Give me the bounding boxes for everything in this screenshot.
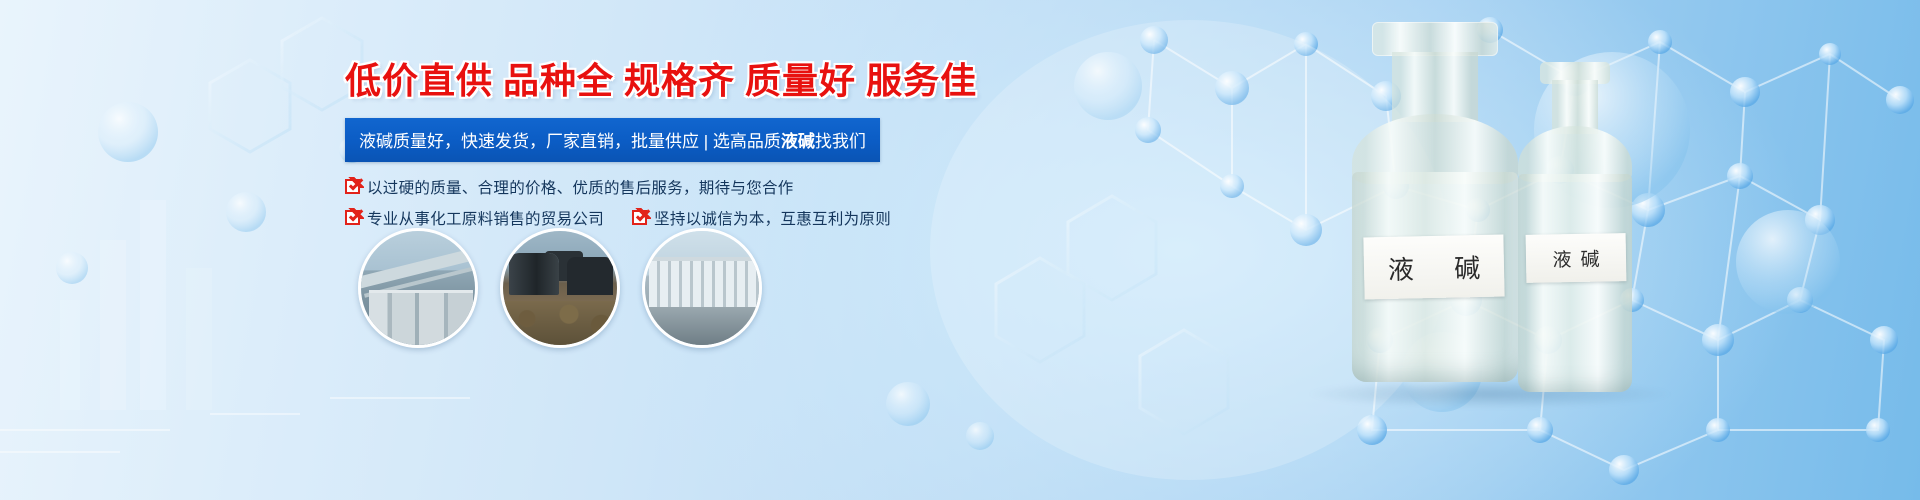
- bottle-large-neck: [1392, 52, 1478, 122]
- page-title: 低价直供品种全规格齐质量好服务佳: [345, 62, 905, 100]
- list-item: 专业从事化工原料销售的贸易公司: [345, 207, 604, 229]
- photo-thumbnail-row: [358, 228, 784, 348]
- subtitle-tail: 找我们: [815, 132, 866, 151]
- subtitle-emphasis: 液碱: [781, 132, 815, 151]
- headline-part-3: 规格齐: [624, 60, 735, 101]
- bottle-large-cap: [1372, 22, 1498, 56]
- product-bottles: 液 碱 液碱: [1160, 0, 1920, 500]
- bullet-label: 专业从事化工原料销售的贸易公司: [367, 207, 604, 229]
- photo-storage-tanks: [358, 228, 478, 348]
- headline-part-1: 低价直供: [345, 60, 493, 101]
- bottle-small: 液碱: [1510, 62, 1640, 392]
- bottle-small-body: [1518, 174, 1632, 392]
- bottle-small-label-text: 液碱: [1543, 244, 1608, 272]
- bullet-row-2: 专业从事化工原料销售的贸易公司 坚持以诚信为本，互惠互利为原则: [345, 207, 905, 229]
- bullet-row-1: 以过硬的质量、合理的价格、优质的售后服务，期待与您合作: [345, 176, 905, 198]
- bullet-label: 以过硬的质量、合理的价格、优质的售后服务，期待与您合作: [367, 176, 794, 198]
- banner-text-content: 低价直供品种全规格齐质量好服务佳 液碱质量好，快速发货，厂家直销，批量供应 | …: [345, 62, 905, 238]
- subtitle-lead: 液碱质量好，快速发货，厂家直销，批量供应 | 选高品质: [359, 132, 781, 151]
- bottle-large: 液 碱: [1340, 22, 1530, 382]
- list-item: 坚持以诚信为本，互惠互利为原则: [632, 207, 891, 229]
- feature-bullet-list: 以过硬的质量、合理的价格、优质的售后服务，期待与您合作 专业从事化工原料销售的贸…: [345, 176, 905, 229]
- photo-reaction-tanks: [500, 228, 620, 348]
- headline-part-5: 服务佳: [866, 60, 977, 101]
- bottle-large-label: 液 碱: [1363, 235, 1504, 300]
- check-icon: [345, 210, 360, 225]
- photo-factory-workshop: [642, 228, 762, 348]
- check-icon: [632, 210, 647, 225]
- promo-banner: 低价直供品种全规格齐质量好服务佳 液碱质量好，快速发货，厂家直销，批量供应 | …: [0, 0, 1920, 500]
- headline-part-2: 品种全: [503, 60, 614, 101]
- bottle-large-label-text: 液 碱: [1371, 247, 1496, 287]
- photo-image: [503, 231, 617, 345]
- headline-part-4: 质量好: [745, 60, 856, 101]
- photo-image: [645, 231, 759, 345]
- subtitle-bar: 液碱质量好，快速发货，厂家直销，批量供应 | 选高品质液碱找我们: [345, 118, 880, 162]
- list-item: 以过硬的质量、合理的价格、优质的售后服务，期待与您合作: [345, 176, 794, 198]
- bottle-small-label: 液碱: [1526, 233, 1627, 283]
- check-icon: [345, 179, 360, 194]
- photo-image: [361, 231, 475, 345]
- bullet-label: 坚持以诚信为本，互惠互利为原则: [654, 207, 891, 229]
